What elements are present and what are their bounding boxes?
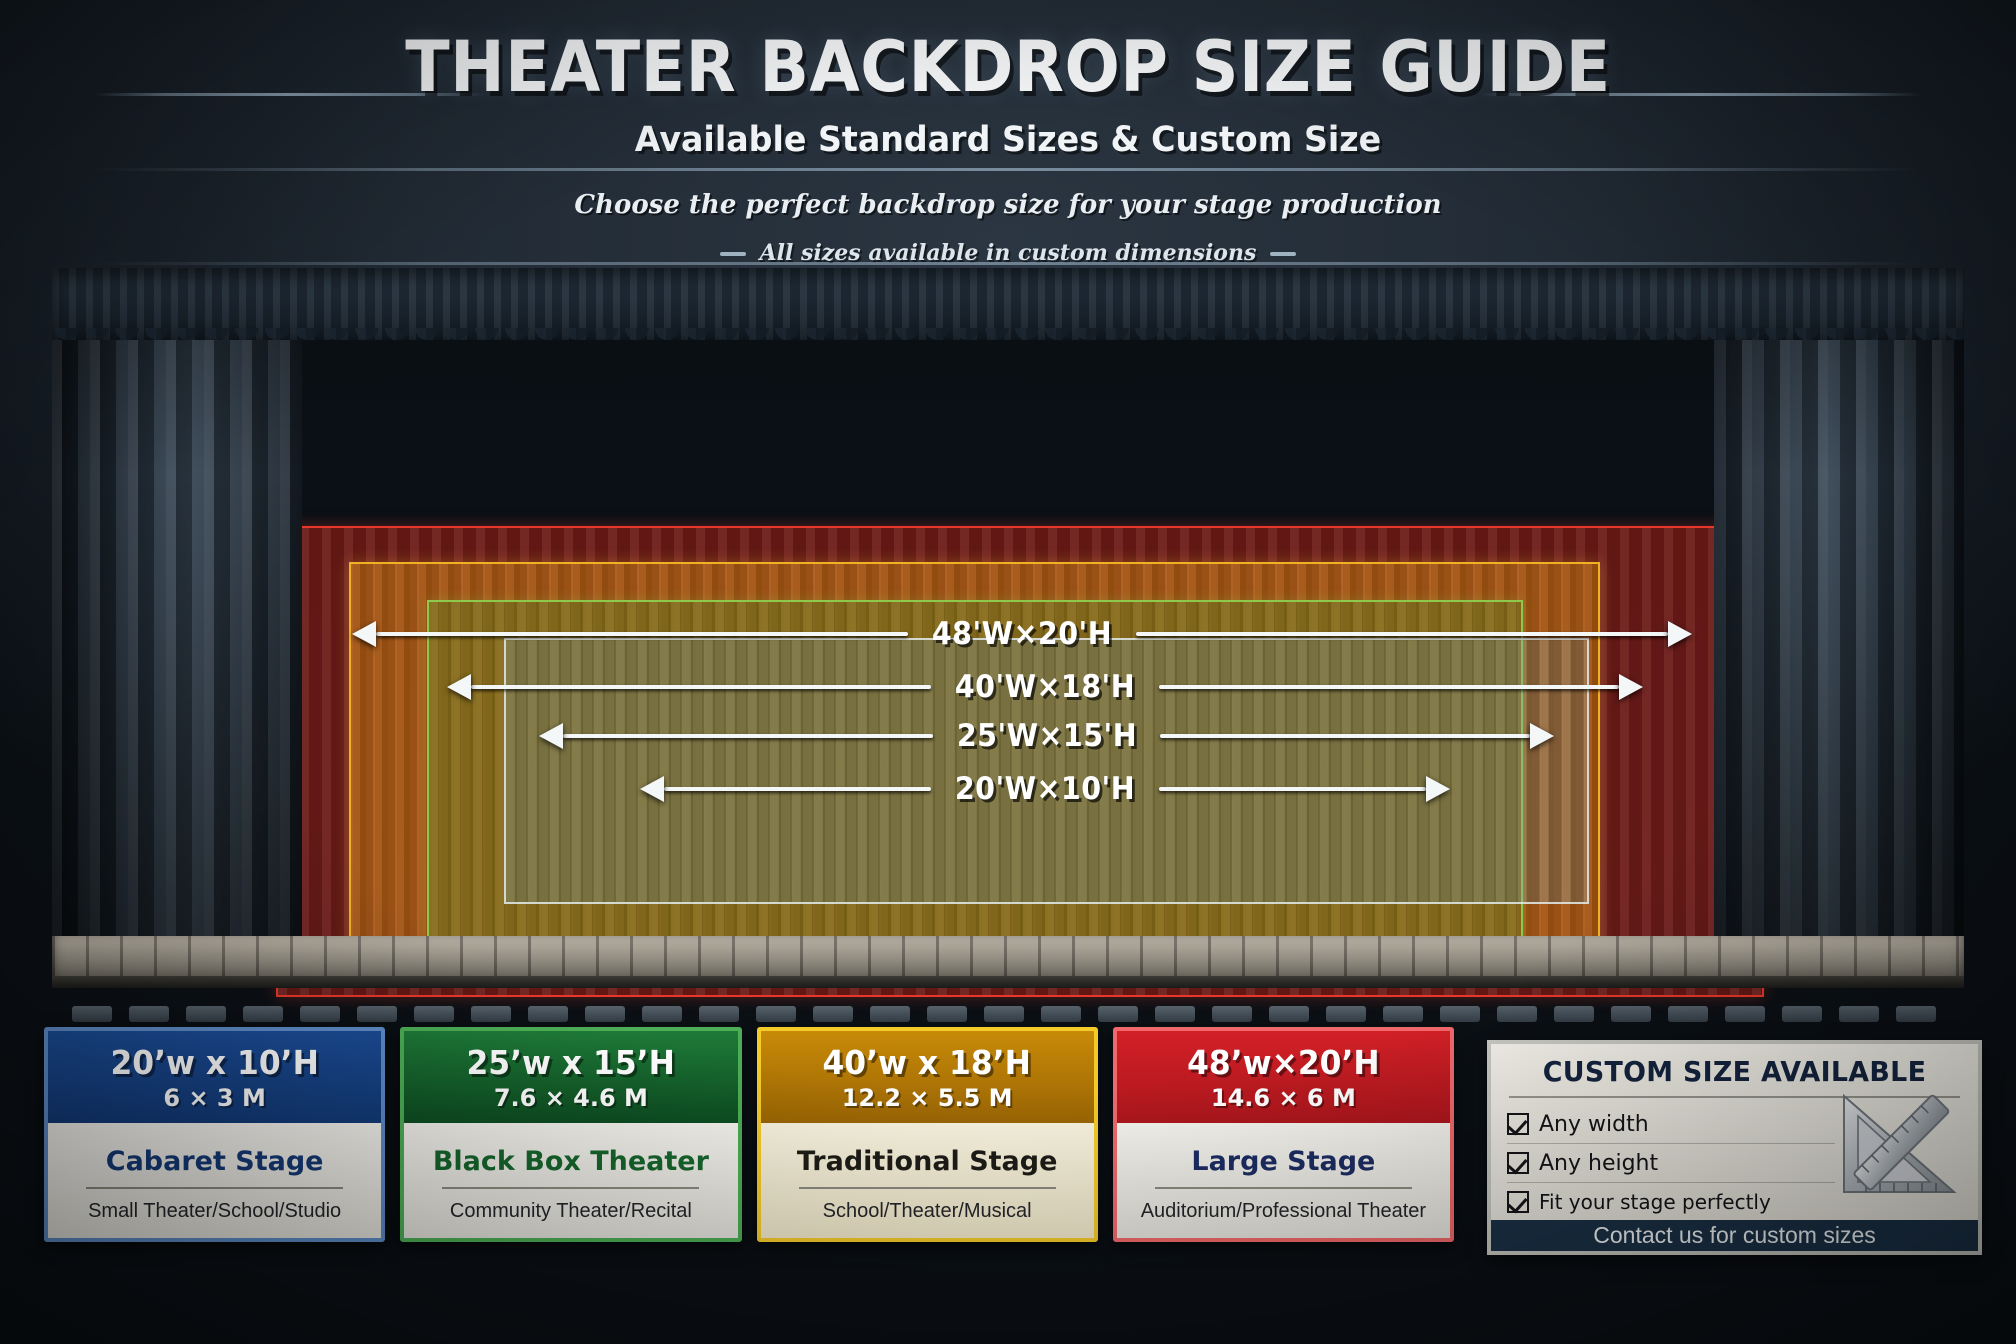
size-card-metric: 6 × 3 M [163, 1084, 265, 1112]
footlight [528, 1006, 568, 1022]
stage-diagram: 48'W×20'H 40'W×18'H 25'W×15'H 20'W×10'H [52, 268, 1964, 988]
infographic-page: THEATER BACKDROP SIZE GUIDE Available St… [0, 0, 2016, 1344]
size-card-name: Large Stage [1191, 1146, 1375, 1177]
page-title: THEATER BACKDROP SIZE GUIDE [71, 26, 1946, 108]
custom-size-body: CUSTOM SIZE AVAILABLE Any width Any heig… [1491, 1044, 1978, 1220]
stage-curtain-left [52, 308, 302, 968]
footlight [642, 1006, 682, 1022]
footlight [1041, 1006, 1081, 1022]
size-card-imperial: 48’w×20’H [1187, 1043, 1380, 1082]
dimension-bar-left [664, 787, 931, 791]
stage-floor-edge [52, 976, 1964, 988]
checkbox-checked-icon [1507, 1113, 1529, 1135]
size-card-list: 20’w x 10’H 6 × 3 M Cabaret Stage Small … [44, 1027, 1454, 1242]
dimension-row-48x20: 48'W×20'H [352, 616, 1692, 652]
arrow-left-icon [447, 674, 471, 700]
contact-cta-bar[interactable]: Contact us for custom sizes [1491, 1220, 1978, 1251]
arrow-right-icon [1426, 776, 1450, 802]
size-card-header: 40’w x 18’H 12.2 × 5.5 M [761, 1031, 1094, 1123]
footlight [1440, 1006, 1480, 1022]
footlight [300, 1006, 340, 1022]
footlight [870, 1006, 910, 1022]
custom-feature-label: Fit your stage perfectly [1539, 1190, 1771, 1214]
size-card-imperial: 20’w x 10’H [110, 1043, 318, 1082]
dimension-bar-left [376, 632, 908, 636]
size-card-metric: 12.2 × 5.5 M [842, 1084, 1013, 1112]
dimension-bar-right [1159, 787, 1426, 791]
stage-curtain-right [1714, 308, 1964, 968]
page-tagline: Choose the perfect backdrop size for you… [0, 190, 2016, 220]
custom-feature-divider [1507, 1143, 1835, 1144]
dimension-bar-right [1160, 734, 1530, 738]
size-card-traditional-stage[interactable]: 40’w x 18’H 12.2 × 5.5 M Traditional Sta… [757, 1027, 1098, 1242]
footlight [1896, 1006, 1936, 1022]
footlight [357, 1006, 397, 1022]
footlight [1155, 1006, 1195, 1022]
footlight [1212, 1006, 1252, 1022]
size-card-large-stage[interactable]: 48’w×20’H 14.6 × 6 M Large Stage Auditor… [1113, 1027, 1454, 1242]
footlight [414, 1006, 454, 1022]
size-card-cabaret-stage[interactable]: 20’w x 10’H 6 × 3 M Cabaret Stage Small … [44, 1027, 385, 1242]
footlight [1611, 1006, 1651, 1022]
size-card-metric: 7.6 × 4.6 M [494, 1084, 648, 1112]
dimension-label-48x20: 48'W×20'H [917, 616, 1127, 652]
size-card-divider [86, 1187, 343, 1189]
note-dash-left [720, 252, 746, 256]
arrow-left-icon [352, 621, 376, 647]
footlight [1725, 1006, 1765, 1022]
custom-feature-any-height: Any height [1507, 1145, 1962, 1181]
dimension-bar-right [1136, 632, 1668, 636]
header: THEATER BACKDROP SIZE GUIDE Available St… [0, 0, 2016, 285]
size-card-usage: Small Theater/School/Studio [88, 1200, 341, 1223]
arrow-right-icon [1668, 621, 1692, 647]
footlight [813, 1006, 853, 1022]
dimension-label-40x18: 40'W×18'H [940, 669, 1150, 705]
footlight [1554, 1006, 1594, 1022]
arrow-right-icon [1619, 674, 1643, 700]
footlight [243, 1006, 283, 1022]
custom-feature-any-width: Any width [1507, 1106, 1962, 1142]
footlight [1383, 1006, 1423, 1022]
custom-feature-label: Any height [1539, 1151, 1658, 1176]
page-subtitle: Available Standard Sizes & Custom Size [50, 120, 1965, 160]
footlight [927, 1006, 967, 1022]
size-card-imperial: 40’w x 18’H [823, 1043, 1031, 1082]
arrow-left-icon [640, 776, 664, 802]
footlight [984, 1006, 1024, 1022]
custom-size-panel[interactable]: CUSTOM SIZE AVAILABLE Any width Any heig… [1487, 1040, 1982, 1255]
dimension-row-25x15: 25'W×15'H [539, 718, 1554, 754]
size-card-body: Cabaret Stage Small Theater/School/Studi… [48, 1123, 381, 1242]
size-card-body: Large Stage Auditorium/Professional Thea… [1117, 1123, 1450, 1242]
custom-feature-fit-stage: Fit your stage perfectly [1507, 1184, 1962, 1220]
note-text: All sizes available in custom dimensions [760, 240, 1257, 266]
size-card-metric: 14.6 × 6 M [1211, 1084, 1356, 1112]
footlight [756, 1006, 796, 1022]
dimension-row-20x10: 20'W×10'H [640, 771, 1450, 807]
dimension-bar-left [563, 734, 933, 738]
size-card-imperial: 25’w x 15’H [467, 1043, 675, 1082]
footlight [1326, 1006, 1366, 1022]
custom-feature-label: Any width [1539, 1112, 1649, 1137]
arrow-right-icon [1530, 723, 1554, 749]
footlight [1269, 1006, 1309, 1022]
size-card-divider [1155, 1187, 1412, 1189]
size-card-black-box-theater[interactable]: 25’w x 15’H 7.6 × 4.6 M Black Box Theate… [400, 1027, 741, 1242]
footlight [1497, 1006, 1537, 1022]
size-card-header: 48’w×20’H 14.6 × 6 M [1117, 1031, 1450, 1123]
size-card-usage: School/Theater/Musical [823, 1200, 1032, 1223]
footlight [1839, 1006, 1879, 1022]
size-card-name: Black Box Theater [433, 1146, 709, 1177]
custom-size-title: CUSTOM SIZE AVAILABLE [1516, 1055, 1953, 1088]
checkbox-checked-icon [1507, 1152, 1529, 1174]
size-card-name: Traditional Stage [797, 1146, 1058, 1177]
size-card-body: Traditional Stage School/Theater/Musical [761, 1123, 1094, 1242]
footlight [1668, 1006, 1708, 1022]
footlight [1782, 1006, 1822, 1022]
dimension-label-25x15: 25'W×15'H [942, 718, 1152, 754]
size-card-divider [799, 1187, 1056, 1189]
footlight [186, 1006, 226, 1022]
page-note: All sizes available in custom dimensions [0, 240, 2016, 266]
header-rule-middle [95, 168, 1920, 171]
size-card-header: 20’w x 10’H 6 × 3 M [48, 1031, 381, 1123]
arrow-left-icon [539, 723, 563, 749]
footlight [585, 1006, 625, 1022]
size-card-header: 25’w x 15’H 7.6 × 4.6 M [404, 1031, 737, 1123]
footlight [471, 1006, 511, 1022]
footlight [72, 1006, 112, 1022]
checkbox-checked-icon [1507, 1191, 1529, 1213]
dimension-row-40x18: 40'W×18'H [447, 669, 1643, 705]
custom-feature-divider [1507, 1182, 1835, 1183]
note-dash-right [1270, 252, 1296, 256]
dimension-label-20x10: 20'W×10'H [940, 771, 1150, 807]
size-card-usage: Auditorium/Professional Theater [1141, 1200, 1426, 1223]
footlight [1098, 1006, 1138, 1022]
size-card-divider [442, 1187, 699, 1189]
size-card-usage: Community Theater/Recital [450, 1200, 692, 1223]
dimension-bar-right [1159, 685, 1619, 689]
footlight [129, 1006, 169, 1022]
size-card-body: Black Box Theater Community Theater/Reci… [404, 1123, 737, 1242]
size-card-name: Cabaret Stage [106, 1146, 324, 1177]
footlight [699, 1006, 739, 1022]
dimension-bar-left [471, 685, 931, 689]
